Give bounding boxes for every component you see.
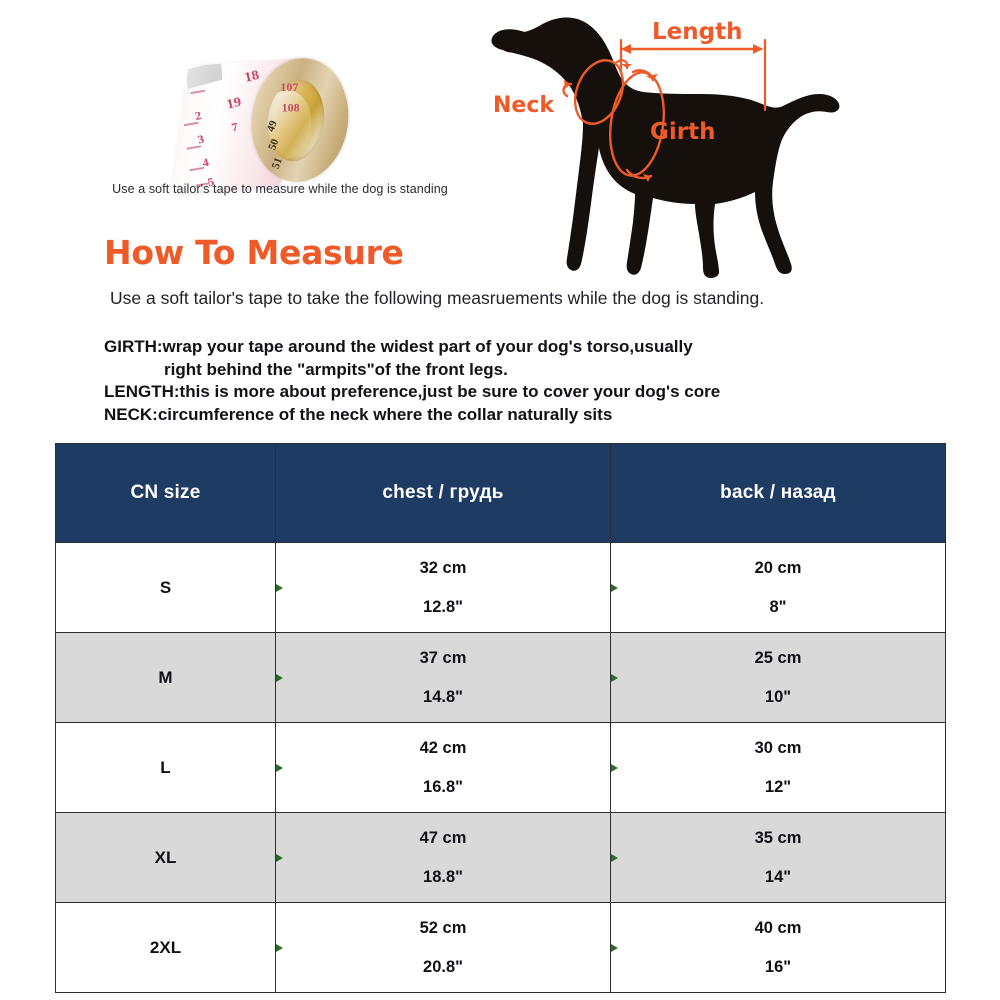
length-label: Length	[652, 19, 742, 45]
table-row: L 42 cm 16.8" 30 cm 12"	[56, 723, 946, 813]
chest-cm: 37 cm	[277, 650, 609, 667]
back-cm: 30 cm	[612, 740, 944, 757]
green-arrow-marker-icon	[276, 584, 283, 592]
chest-cm: 47 cm	[277, 830, 609, 847]
measurement-notes: GIRTH:wrap your tape around the widest p…	[104, 336, 934, 426]
chest-cm: 32 cm	[277, 560, 609, 577]
cell-chest: 52 cm 20.8"	[276, 903, 611, 993]
cell-chest: 47 cm 18.8"	[276, 813, 611, 903]
column-header-back: back / назад	[611, 444, 946, 543]
green-arrow-marker-icon	[276, 674, 283, 682]
dog-measurement-diagram: Length Neck Girth	[485, 6, 845, 296]
size-table: CN size chest / грудь back / назад S 32 …	[55, 443, 946, 993]
green-arrow-marker-icon	[276, 764, 283, 772]
note-neck: NECK:circumference of the neck where the…	[104, 404, 934, 427]
back-cm: 20 cm	[612, 560, 944, 577]
measurement-guide-section: 18 19 2 7 3 4 5 6 107 108 49	[0, 0, 1000, 430]
tape-number: 19	[225, 95, 243, 113]
table-header-row: CN size chest / грудь back / назад	[56, 444, 946, 543]
green-arrow-marker-icon	[611, 764, 618, 772]
cell-size: 2XL	[56, 903, 276, 993]
green-arrow-marker-icon	[276, 854, 283, 862]
chest-in: 18.8"	[277, 869, 609, 886]
chest-in: 12.8"	[277, 599, 609, 616]
cell-chest: 32 cm 12.8"	[276, 543, 611, 633]
cell-size: L	[56, 723, 276, 813]
chest-cm: 42 cm	[277, 740, 609, 757]
neck-label: Neck	[493, 93, 555, 118]
table-row: 2XL 52 cm 20.8" 40 cm 16"	[56, 903, 946, 993]
chest-in: 16.8"	[277, 779, 609, 796]
girth-label: Girth	[650, 119, 715, 145]
tape-number: 18	[243, 68, 261, 86]
measuring-tape-roll-photo-icon: 18 19 2 7 3 4 5 6 107 108 49	[180, 36, 345, 194]
table-row: M 37 cm 14.8" 25 cm 10"	[56, 633, 946, 723]
table-row: XL 47 cm 18.8" 35 cm 14"	[56, 813, 946, 903]
cell-size: XL	[56, 813, 276, 903]
column-header-cn-size: CN size	[56, 444, 276, 543]
cell-back: 25 cm 10"	[611, 633, 946, 723]
note-length: LENGTH:this is more about preference,jus…	[104, 381, 934, 404]
tape-metal-end	[186, 60, 222, 89]
back-in: 8"	[612, 599, 944, 616]
green-arrow-marker-icon	[611, 854, 618, 862]
back-in: 16"	[612, 959, 944, 976]
back-cm: 25 cm	[612, 650, 944, 667]
back-cm: 35 cm	[612, 830, 944, 847]
cell-size: M	[56, 633, 276, 723]
cell-back: 40 cm 16"	[611, 903, 946, 993]
green-arrow-marker-icon	[276, 944, 283, 952]
size-chart: CN size chest / грудь back / назад S 32 …	[55, 443, 945, 993]
intro-text: Use a soft tailor's tape to take the fol…	[110, 288, 764, 309]
cell-size: S	[56, 543, 276, 633]
tape-number: 7	[230, 120, 239, 135]
note-girth-cont: right behind the "armpits"of the front l…	[104, 359, 934, 382]
cell-back: 30 cm 12"	[611, 723, 946, 813]
dog-silhouette-icon	[491, 17, 839, 278]
cell-chest: 37 cm 14.8"	[276, 633, 611, 723]
tape-number: 108	[282, 101, 300, 116]
tape-number: 107	[280, 80, 298, 95]
back-in: 10"	[612, 689, 944, 706]
tape-photo-caption: Use a soft tailor's tape to measure whil…	[100, 182, 460, 196]
chest-in: 20.8"	[277, 959, 609, 976]
cell-chest: 42 cm 16.8"	[276, 723, 611, 813]
column-header-chest: chest / грудь	[276, 444, 611, 543]
green-arrow-marker-icon	[611, 944, 618, 952]
green-arrow-marker-icon	[611, 584, 618, 592]
cell-back: 35 cm 14"	[611, 813, 946, 903]
tape-photo-block: 18 19 2 7 3 4 5 6 107 108 49	[100, 30, 460, 205]
chest-cm: 52 cm	[277, 920, 609, 937]
back-cm: 40 cm	[612, 920, 944, 937]
back-in: 12"	[612, 779, 944, 796]
green-arrow-marker-icon	[611, 674, 618, 682]
note-girth: GIRTH:wrap your tape around the widest p…	[104, 336, 934, 359]
chest-in: 14.8"	[277, 689, 609, 706]
page-title: How To Measure	[104, 233, 404, 272]
cell-back: 20 cm 8"	[611, 543, 946, 633]
table-row: S 32 cm 12.8" 20 cm 8"	[56, 543, 946, 633]
back-in: 14"	[612, 869, 944, 886]
